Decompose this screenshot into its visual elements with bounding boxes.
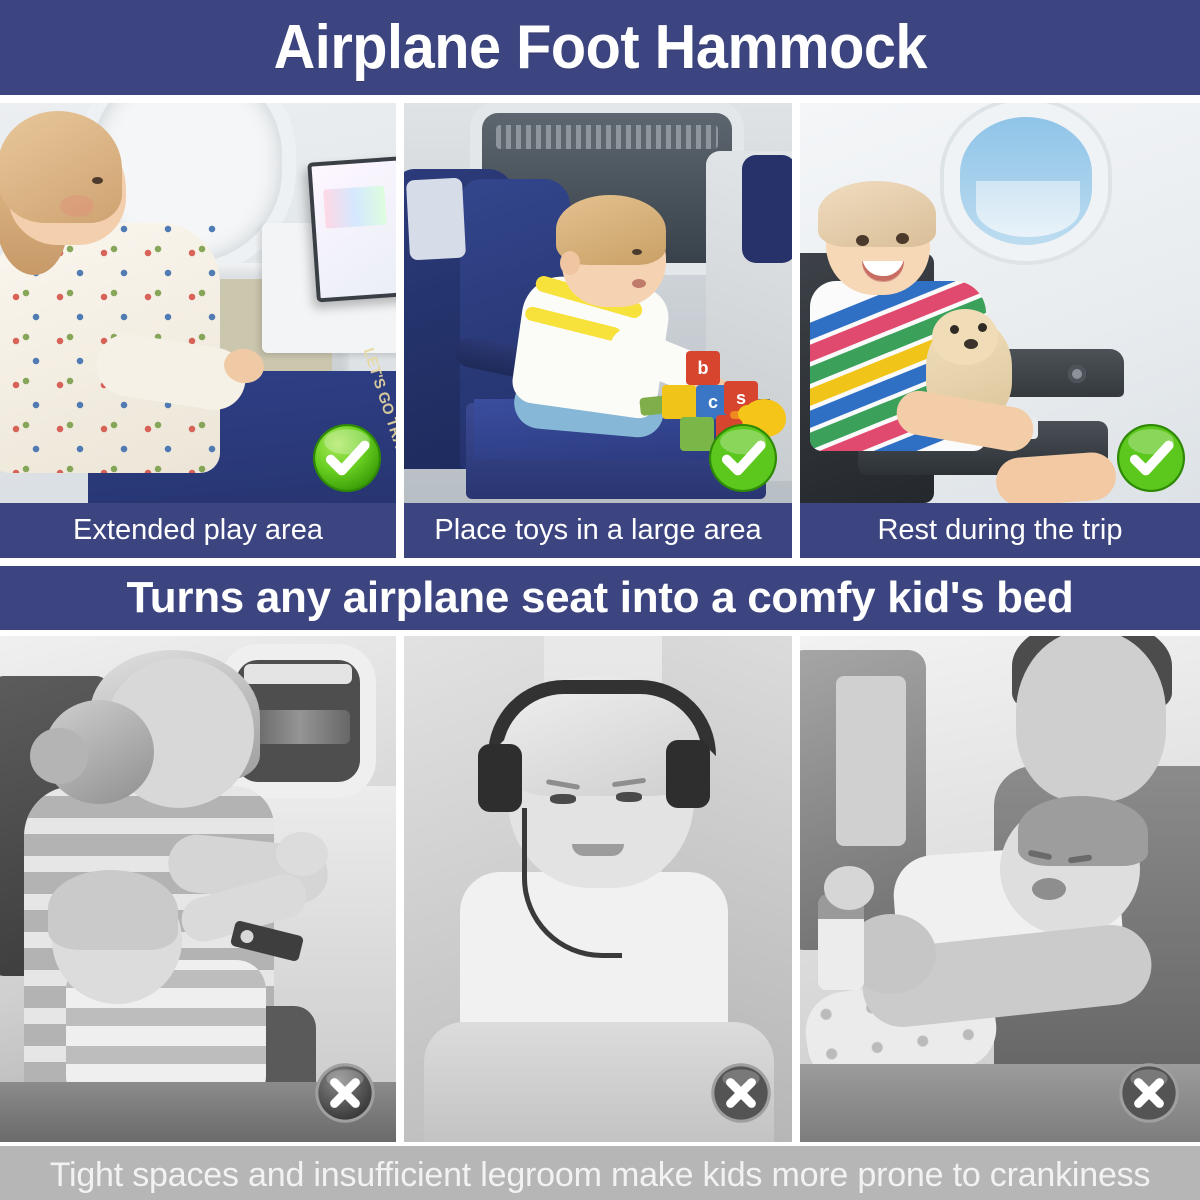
problem-photo-row [0, 636, 1200, 1142]
page-title: Airplane Foot Hammock [273, 17, 926, 79]
benefit-photo-1: LET'S GO TRAVEL [0, 103, 396, 503]
tablet-device [307, 156, 396, 303]
green-check-badge-icon [310, 421, 384, 495]
benefit-photo-2: b c s [404, 103, 792, 503]
caption-3: Rest during the trip [800, 503, 1200, 558]
problem-photo-2 [404, 636, 792, 1142]
problem-photo-1 [0, 636, 396, 1142]
caption-2: Place toys in a large area [404, 503, 792, 558]
red-x-badge-icon [314, 1062, 376, 1124]
page-title-bar: Airplane Foot Hammock [0, 0, 1200, 95]
caption-1: Extended play area [0, 503, 396, 558]
problem-banner-text: Tight spaces and insufficient legroom ma… [50, 1158, 1151, 1192]
green-check-badge-icon [1114, 421, 1188, 495]
shirt-stripe [66, 1046, 266, 1064]
red-x-badge-icon [710, 1062, 772, 1124]
benefit-photo-3 [800, 103, 1200, 503]
infographic-page: Airplane Foot Hammock [0, 0, 1200, 1200]
tagline-banner: Turns any airplane seat into a comfy kid… [0, 566, 1200, 630]
green-check-badge-icon [706, 421, 780, 495]
red-x-badge-icon [1118, 1062, 1180, 1124]
benefit-photo-row: LET'S GO TRAVEL [0, 103, 1200, 503]
shirt-stripe [66, 1008, 266, 1026]
tagline-text: Turns any airplane seat into a comfy kid… [126, 576, 1073, 620]
benefit-caption-row: Extended play area Place toys in a large… [0, 503, 1200, 558]
problem-photo-3 [800, 636, 1200, 1142]
problem-banner: Tight spaces and insufficient legroom ma… [0, 1146, 1200, 1200]
toy-block: b [686, 351, 720, 385]
toy-block [662, 385, 696, 419]
